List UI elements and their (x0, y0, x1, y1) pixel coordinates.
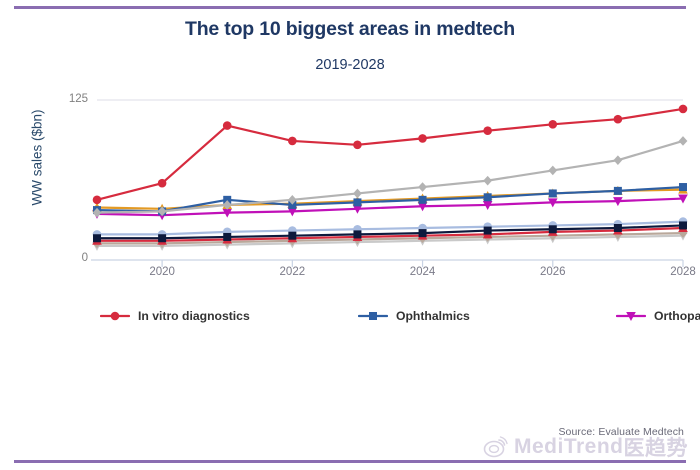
legend-item-orthopaedics[interactable]: Orthopaedics (616, 308, 700, 324)
watermark-latin: MediTrend (514, 435, 624, 459)
watermark-chinese: 医趋势 (624, 432, 689, 462)
x-axis-tick-2026: 2026 (531, 266, 575, 278)
legend-item-ophthalmics[interactable]: Ophthalmics (358, 308, 598, 324)
chart-page: The top 10 biggest areas in medtech 2019… (0, 0, 700, 470)
x-axis-tick-2022: 2022 (270, 266, 314, 278)
x-axis-tick-2024: 2024 (401, 266, 445, 278)
legend-item-label: In vitro diagnostics (138, 310, 250, 322)
weibo-eye-icon (483, 434, 509, 460)
triangle-down-marker-icon (616, 308, 646, 324)
circle-marker-icon (100, 308, 130, 324)
watermark: MediTrend 医趋势 (483, 432, 688, 462)
legend-item-label: Orthopaedics (654, 310, 700, 322)
legend-item-label: Ophthalmics (396, 310, 470, 322)
series-cardiology (93, 136, 688, 217)
plot-area: WW sales ($bn) 125 0 2020 2022 2024 2026… (0, 0, 700, 300)
x-axis-tick-2028: 2028 (661, 266, 700, 278)
line-chart (0, 0, 700, 300)
legend-item-in-vitro-diagnostics[interactable]: In vitro diagnostics (100, 308, 340, 324)
square-marker-icon (358, 308, 388, 324)
chart-legend: In vitro diagnosticsOphthalmicsOrthopaed… (100, 305, 620, 417)
x-axis-tick-2020: 2020 (140, 266, 184, 278)
bottom-accent-rule (14, 460, 686, 463)
